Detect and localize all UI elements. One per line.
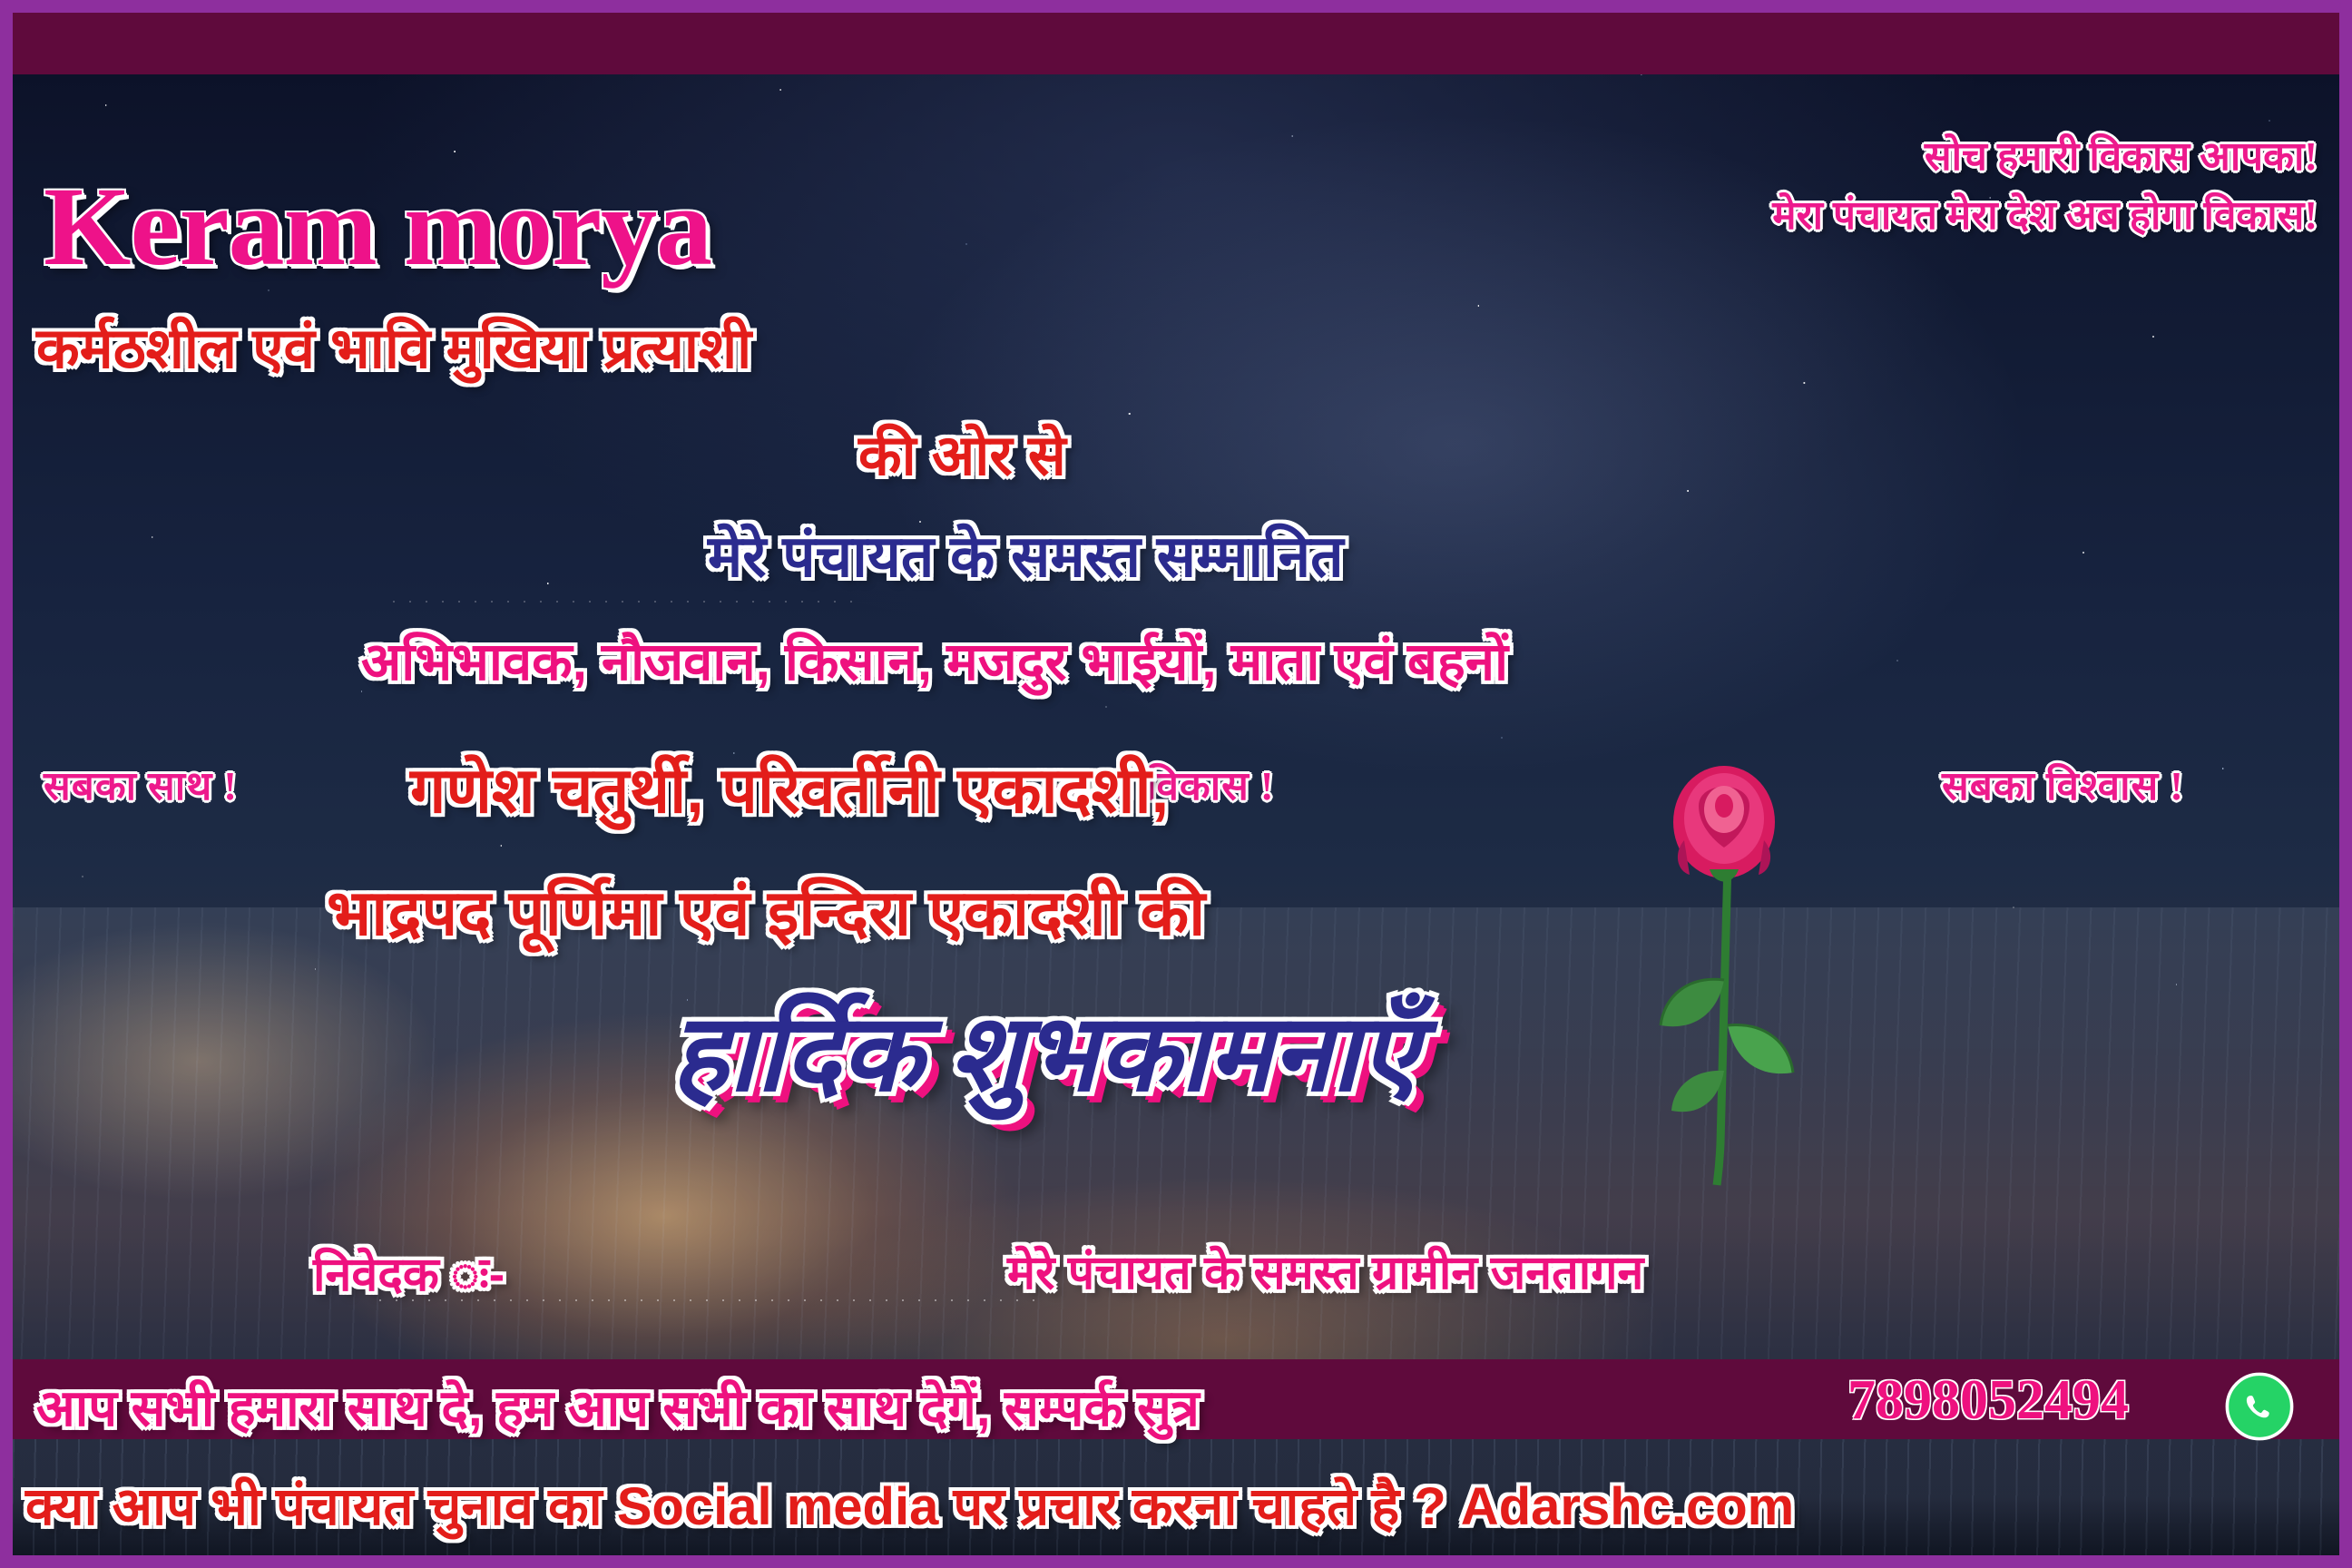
rose-flower-icon — [1633, 753, 1815, 1189]
whatsapp-icon[interactable] — [2225, 1372, 2294, 1441]
dotted-rule-top — [390, 599, 862, 604]
contact-phone-number[interactable]: 7898052494 — [1847, 1368, 2129, 1433]
occasion-line-1: गणेश चतुर्थी, परिवर्तीनी एकादशी, — [410, 758, 1169, 825]
from-label: की ओर से — [858, 426, 1066, 485]
frame-left — [0, 0, 13, 1568]
top-slogan-1: सबका साथ ! — [44, 757, 238, 811]
tagline-1: सोच हमारी विकास आपका! — [1925, 127, 2318, 181]
addressee-line-2: अभिभावक, नौजवान, किसान, मजदुर भाईयों, मा… — [361, 635, 1508, 691]
tagline-2: मेरा पंचायत मेरा देश अब होगा विकास! — [1772, 186, 2318, 240]
candidate-name: Keram morya — [44, 171, 711, 283]
sender-label: निवेदक ः- — [313, 1250, 505, 1300]
dotted-rule-bottom — [377, 1298, 1048, 1303]
top-slogan-3: सबका विश्वास ! — [1942, 757, 2184, 811]
footer-promo-text[interactable]: क्या आप भी पंचायत चुनाव का Social media … — [25, 1468, 1794, 1540]
top-slogan-band — [13, 13, 2339, 74]
candidate-subtitle: कर्मठशील एवं भावि मुखिया प्रत्याशी — [36, 319, 751, 378]
frame-top — [0, 0, 2352, 13]
frame-right — [2339, 0, 2352, 1568]
sender-name: मेरे पंचायत के समस्त ग्रामीन जनतागन — [1007, 1249, 1643, 1298]
frame-bottom — [0, 1555, 2352, 1568]
occasion-line-2: भाद्रपद पूर्णिमा एवं इन्दिरा एकादशी की — [327, 880, 1205, 947]
greeting-poster: सबका साथ ! सबका विकास ! सबका विश्वास ! स… — [0, 0, 2352, 1568]
addressee-line-1: मेरे पंचायत के समस्त सम्मानित — [708, 526, 1344, 587]
greeting-text: हार्दिक शुभकामनाएँ — [671, 998, 1418, 1111]
footer-support-text: आप सभी हमारा साथ दे, हम आप सभी का साथ दे… — [36, 1372, 1200, 1441]
